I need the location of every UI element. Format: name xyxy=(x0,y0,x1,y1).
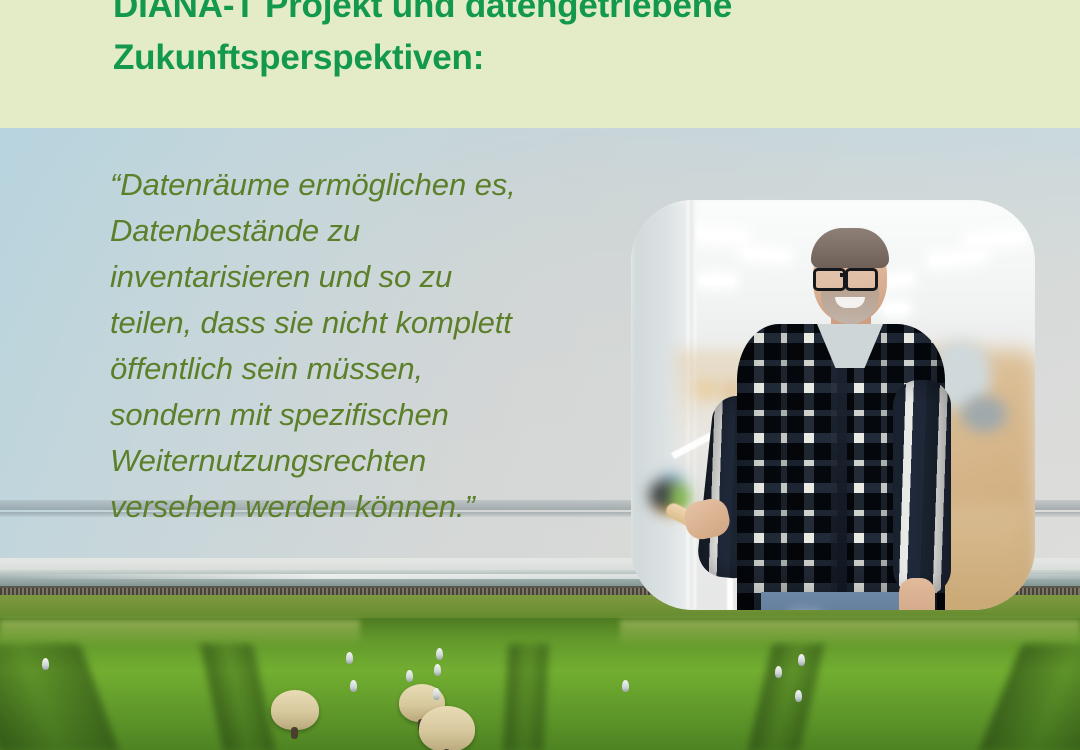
dike-furrow xyxy=(503,644,549,750)
right-arm xyxy=(893,380,951,595)
poster-canvas: DIANA-T Projekt und datengetriebene Zuku… xyxy=(0,0,1080,750)
seagull xyxy=(350,680,357,692)
seagull xyxy=(346,652,353,664)
dike-crest xyxy=(0,620,360,646)
seagull xyxy=(795,690,802,702)
seagull xyxy=(798,654,805,666)
header-band: DIANA-T Projekt und datengetriebene Zuku… xyxy=(0,0,1080,128)
seagull xyxy=(434,664,441,676)
dike-crest xyxy=(620,620,1080,646)
seagull xyxy=(622,680,629,692)
shirt-placket xyxy=(831,350,847,606)
person-figure xyxy=(631,200,1035,610)
hair xyxy=(811,228,889,268)
seagull xyxy=(775,666,782,678)
seagull xyxy=(42,658,49,670)
sheep xyxy=(271,690,319,730)
seagull xyxy=(433,688,440,700)
glasses-icon xyxy=(813,268,846,291)
page-title: DIANA-T Projekt und datengetriebene Zuku… xyxy=(113,0,893,84)
seagull xyxy=(436,648,443,660)
portrait-scene xyxy=(631,200,1035,610)
glasses-icon xyxy=(845,268,878,291)
glasses-bridge xyxy=(840,273,847,277)
sheep xyxy=(419,706,475,750)
quote-text: “Datenräume ermöglichen es, Datenbeständ… xyxy=(110,162,620,530)
seagull xyxy=(406,670,413,682)
portrait-photo xyxy=(631,200,1035,610)
right-hand xyxy=(899,578,935,610)
